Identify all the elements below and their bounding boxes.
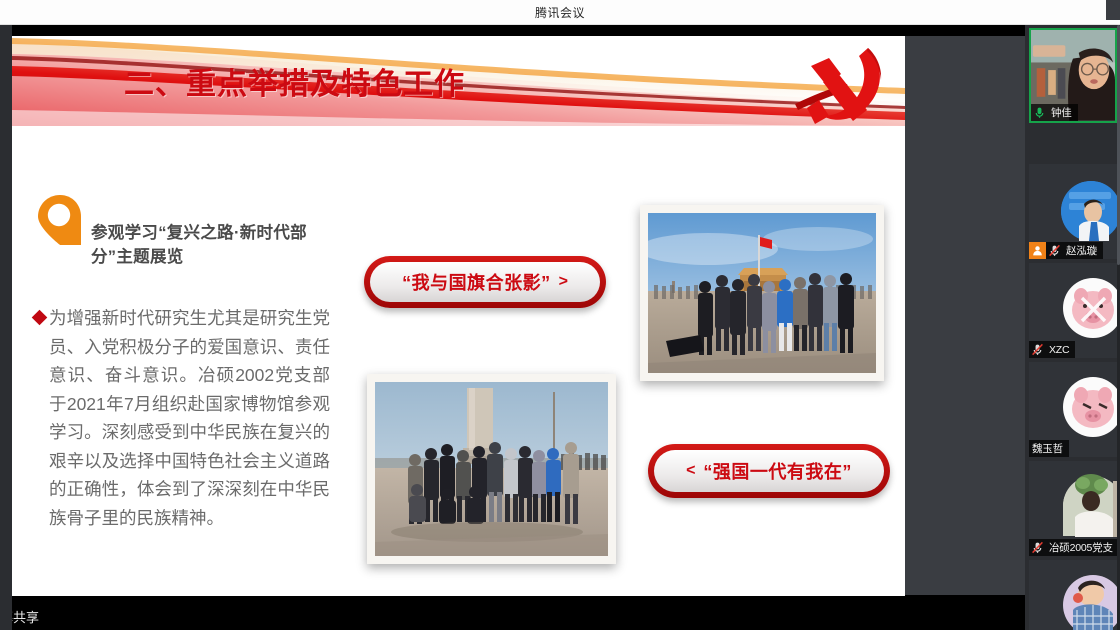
participant-name-2: 赵泓璇: [1063, 243, 1099, 258]
pill-label-strong-nation: “强国一代有我在”: [703, 458, 852, 484]
letterbox-bottom: [12, 595, 1025, 630]
pill-label-flag-photo: “我与国旗合张影”: [402, 269, 551, 295]
participant-name-5: 冶硕2005党支: [1046, 540, 1113, 555]
screen-share-status: 幕共享: [12, 607, 39, 626]
participant-rail[interactable]: 钟佳: [1025, 25, 1120, 630]
participant-tile-1[interactable]: 钟佳: [1029, 28, 1117, 123]
participant-name-1: 钟佳: [1048, 105, 1074, 120]
pill-button-flag-photo[interactable]: “我与国旗合张影” >: [364, 256, 606, 308]
host-badge-icon: [1029, 242, 1046, 259]
participant-tile-4[interactable]: 魏玉哲: [1029, 362, 1117, 457]
location-pin-icon: [37, 194, 83, 246]
letterbox-top: [12, 25, 1025, 36]
shared-screen-stage[interactable]: 幕共享: [12, 25, 1025, 630]
participant-tile-3[interactable]: XZC: [1029, 263, 1117, 358]
slide-title: 二、重点举措及特色工作: [124, 59, 465, 103]
participant-tile-6[interactable]: 裴晓宇: [1029, 560, 1117, 630]
presentation-slide: 二、重点举措及特色工作: [12, 36, 905, 596]
app-title: 腾讯会议: [535, 4, 585, 21]
photo-monument-group: [367, 374, 616, 564]
participant-name-3: XZC: [1046, 344, 1071, 356]
microphone-muted-icon: [1029, 539, 1046, 556]
window-titlebar: 腾讯会议: [0, 0, 1120, 25]
microphone-muted-icon: [1046, 242, 1063, 259]
chevron-left-icon: <: [686, 462, 695, 480]
participant-info-bar-2: 赵泓璇: [1029, 242, 1103, 259]
microphone-muted-icon: [1029, 341, 1046, 358]
participant-info-bar-3: XZC: [1029, 341, 1075, 358]
pill-button-strong-nation[interactable]: < “强国一代有我在”: [648, 444, 890, 498]
diamond-bullet-icon: [32, 310, 48, 326]
slide-body-text: 为增强新时代研究生尤其是研究生党员、入党积极分子的爱国意识、责任意识、奋斗意识。…: [49, 304, 330, 532]
chevron-right-icon: >: [559, 273, 568, 291]
microphone-icon: [1031, 104, 1048, 121]
tencent-meeting-window: 腾讯会议 幕共享: [0, 0, 1120, 630]
window-controls-corner[interactable]: [1106, 0, 1120, 20]
photo-monument-group-image: [375, 382, 608, 556]
slide-header-banner: 二、重点举措及特色工作: [12, 36, 905, 126]
participant-tile-2[interactable]: 赵泓璇: [1029, 164, 1117, 259]
participant-info-bar-5: 冶硕2005党支: [1029, 539, 1117, 556]
communist-party-emblem-icon: [789, 42, 893, 126]
photo-flag-ceremony-image: [648, 213, 876, 373]
participant-info-bar-4: 魏玉哲: [1029, 440, 1069, 457]
pill-inner-surface: “我与国旗合张影” >: [370, 262, 600, 302]
participant-info-bar-1: 钟佳: [1031, 104, 1078, 121]
participant-name-4: 魏玉哲: [1029, 441, 1065, 456]
participant-avatar: [1029, 560, 1117, 630]
slide-body-block: 为增强新时代研究生尤其是研究生党员、入党积极分子的爱国意识、责任意识、奋斗意识。…: [34, 304, 330, 532]
photo-flag-ceremony: [640, 205, 884, 381]
participant-tile-5[interactable]: 冶硕2005党支: [1029, 461, 1117, 556]
slide-sub-heading: 参观学习“复兴之路·新时代部分”主题展览: [91, 222, 323, 270]
pill-inner-surface: < “强国一代有我在”: [654, 450, 884, 492]
